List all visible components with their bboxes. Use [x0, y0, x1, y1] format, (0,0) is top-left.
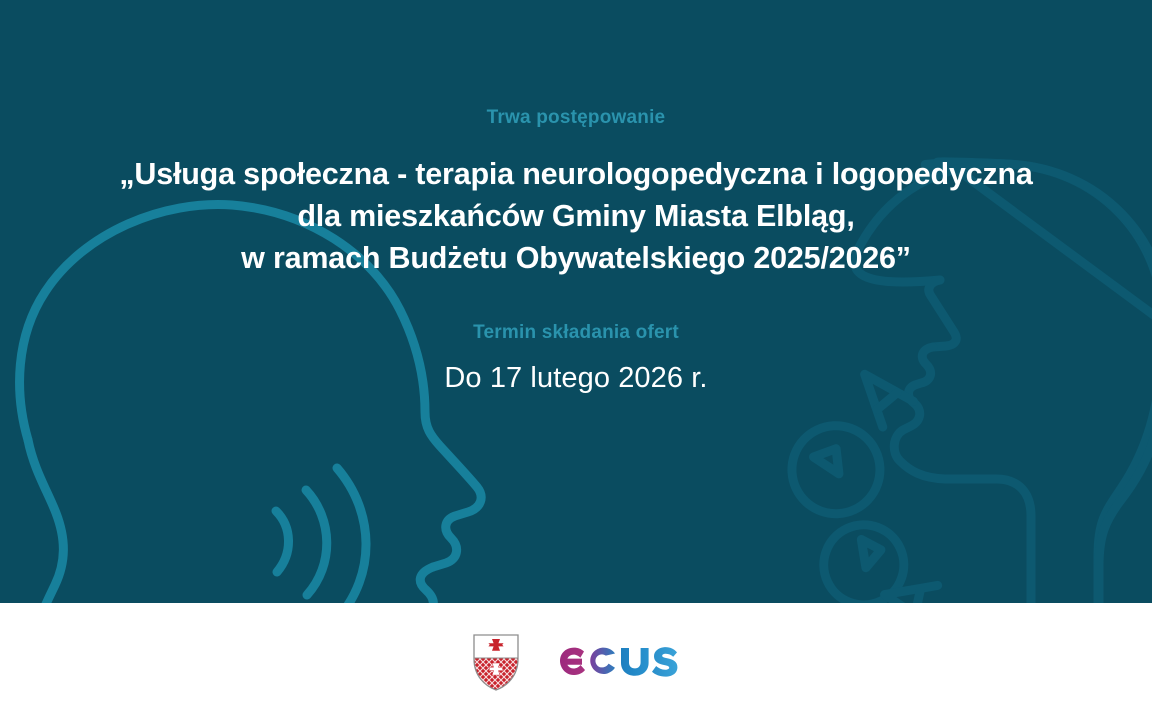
headline-line-3: w ramach Budżetu Obywatelskiego 2025/202…	[119, 237, 1032, 279]
ecus-letter-e	[560, 647, 585, 674]
ecus-letter-c	[590, 647, 615, 673]
headline-line-1: „Usługa społeczna - terapia neurologoped…	[119, 153, 1032, 195]
deadline-value: Do 17 lutego 2026 r.	[444, 363, 707, 395]
footer-logo-bar	[0, 603, 1152, 720]
ecus-letter-u	[621, 648, 649, 676]
page-title: „Usługa społeczna - terapia neurologoped…	[119, 153, 1032, 279]
headline-line-2: dla mieszkańców Gminy Miasta Elbląg,	[119, 195, 1032, 237]
ecus-wordmark	[555, 641, 681, 683]
elblag-coat-of-arms	[471, 632, 521, 692]
status-label: Trwa postępowanie	[487, 108, 666, 127]
deadline-label: Termin składania ofert	[473, 323, 679, 342]
poster-content: Trwa postępowanie „Usługa społeczna - te…	[0, 0, 1152, 603]
ecus-letter-s	[652, 647, 677, 677]
poster-canvas: Trwa postępowanie „Usługa społeczna - te…	[0, 0, 1152, 720]
